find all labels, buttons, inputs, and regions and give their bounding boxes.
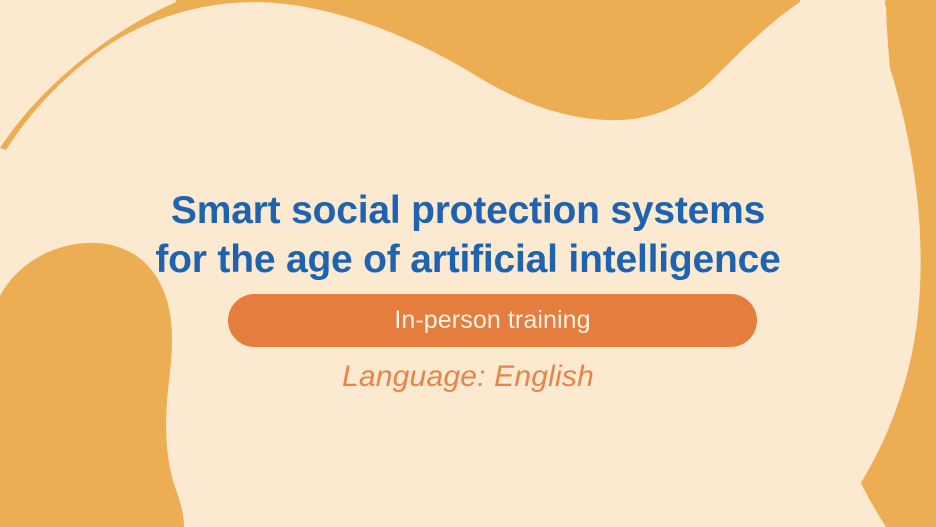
training-mode-badge: In-person training [228,294,757,347]
presentation-slide: Smart social protection systems for the … [0,0,936,527]
status-badge-label: In-person training [394,308,590,333]
page-title: Smart social protection systems for the … [0,186,936,284]
language-label: Language: English [0,358,936,396]
title-line-1: Smart social protection systems [0,186,936,235]
title-line-2: for the age of artificial intelligence [0,235,936,284]
slide-content: Smart social protection systems for the … [0,0,936,527]
